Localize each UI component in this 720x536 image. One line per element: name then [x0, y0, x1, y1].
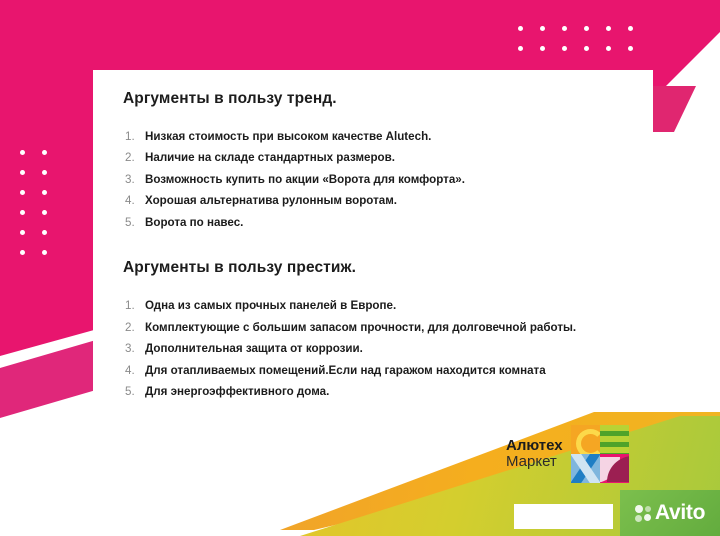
list-item: Одна из самых прочных панелей в Европе.	[145, 295, 623, 316]
content-card: Аргументы в пользу тренд. Низкая стоимос…	[93, 70, 653, 410]
brand-logo-text: Алютех Маркет	[506, 438, 563, 470]
green-stripes-icon	[600, 425, 629, 454]
alutech-market-logo-mark-icon	[571, 425, 629, 483]
argument-list-prestige: Одна из самых прочных панелей в Европе. …	[123, 295, 623, 402]
slide-canvas: Аргументы в пользу тренд. Низкая стоимос…	[0, 0, 720, 536]
dot-grid-left	[20, 150, 64, 270]
magenta-petals-icon	[600, 454, 629, 483]
dot	[20, 230, 25, 235]
section-trend: Аргументы в пользу тренд. Низкая стоимос…	[123, 90, 623, 233]
dot	[20, 190, 25, 195]
brand-logo: Алютех Маркет	[506, 425, 629, 483]
list-item: Низкая стоимость при высоком качестве Al…	[145, 126, 623, 147]
argument-list-trend: Низкая стоимость при высоком качестве Al…	[123, 126, 623, 233]
avito-dots-icon	[635, 505, 652, 522]
dot	[584, 46, 589, 51]
dot	[42, 250, 47, 255]
list-item: Ворота по навес.	[145, 212, 623, 233]
dot	[42, 210, 47, 215]
dot	[20, 250, 25, 255]
dot	[562, 26, 567, 31]
dot	[42, 190, 47, 195]
avito-watermark: Avito	[620, 490, 720, 536]
orange-spiral-icon	[571, 425, 600, 454]
dot	[540, 26, 545, 31]
dot	[42, 150, 47, 155]
list-item: Для энергоэффективного дома.	[145, 381, 623, 402]
brand-name-line2: Маркет	[506, 454, 563, 470]
list-item: Хорошая альтернатива рулонным воротам.	[145, 190, 623, 211]
dot	[606, 26, 611, 31]
avito-wordmark: Avito	[655, 501, 705, 525]
dot	[606, 46, 611, 51]
section-prestige: Аргументы в пользу престиж. Одна из самы…	[123, 259, 623, 402]
dot	[518, 46, 523, 51]
dot	[518, 26, 523, 31]
dot-grid-top-right	[518, 26, 650, 66]
dot	[20, 170, 25, 175]
list-item: Дополнительная защита от коррозии.	[145, 338, 623, 359]
dot	[20, 210, 25, 215]
blank-placeholder-box	[514, 504, 613, 529]
section-title-trend: Аргументы в пользу тренд.	[123, 90, 623, 108]
dot	[20, 150, 25, 155]
section-title-prestige: Аргументы в пользу престиж.	[123, 259, 623, 277]
dot	[628, 46, 633, 51]
dot	[584, 26, 589, 31]
list-item: Комплектующие с большим запасом прочност…	[145, 317, 623, 338]
dot	[562, 46, 567, 51]
dot	[42, 230, 47, 235]
brand-name-line1: Алютех	[506, 438, 563, 454]
dot	[628, 26, 633, 31]
list-item: Наличие на складе стандартных размеров.	[145, 147, 623, 168]
list-item: Для отапливаемых помещений.Если над гара…	[145, 360, 623, 381]
dot	[42, 170, 47, 175]
list-item: Возможность купить по акции «Ворота для …	[145, 169, 623, 190]
dot	[540, 46, 545, 51]
blue-cross-icon	[571, 454, 600, 483]
